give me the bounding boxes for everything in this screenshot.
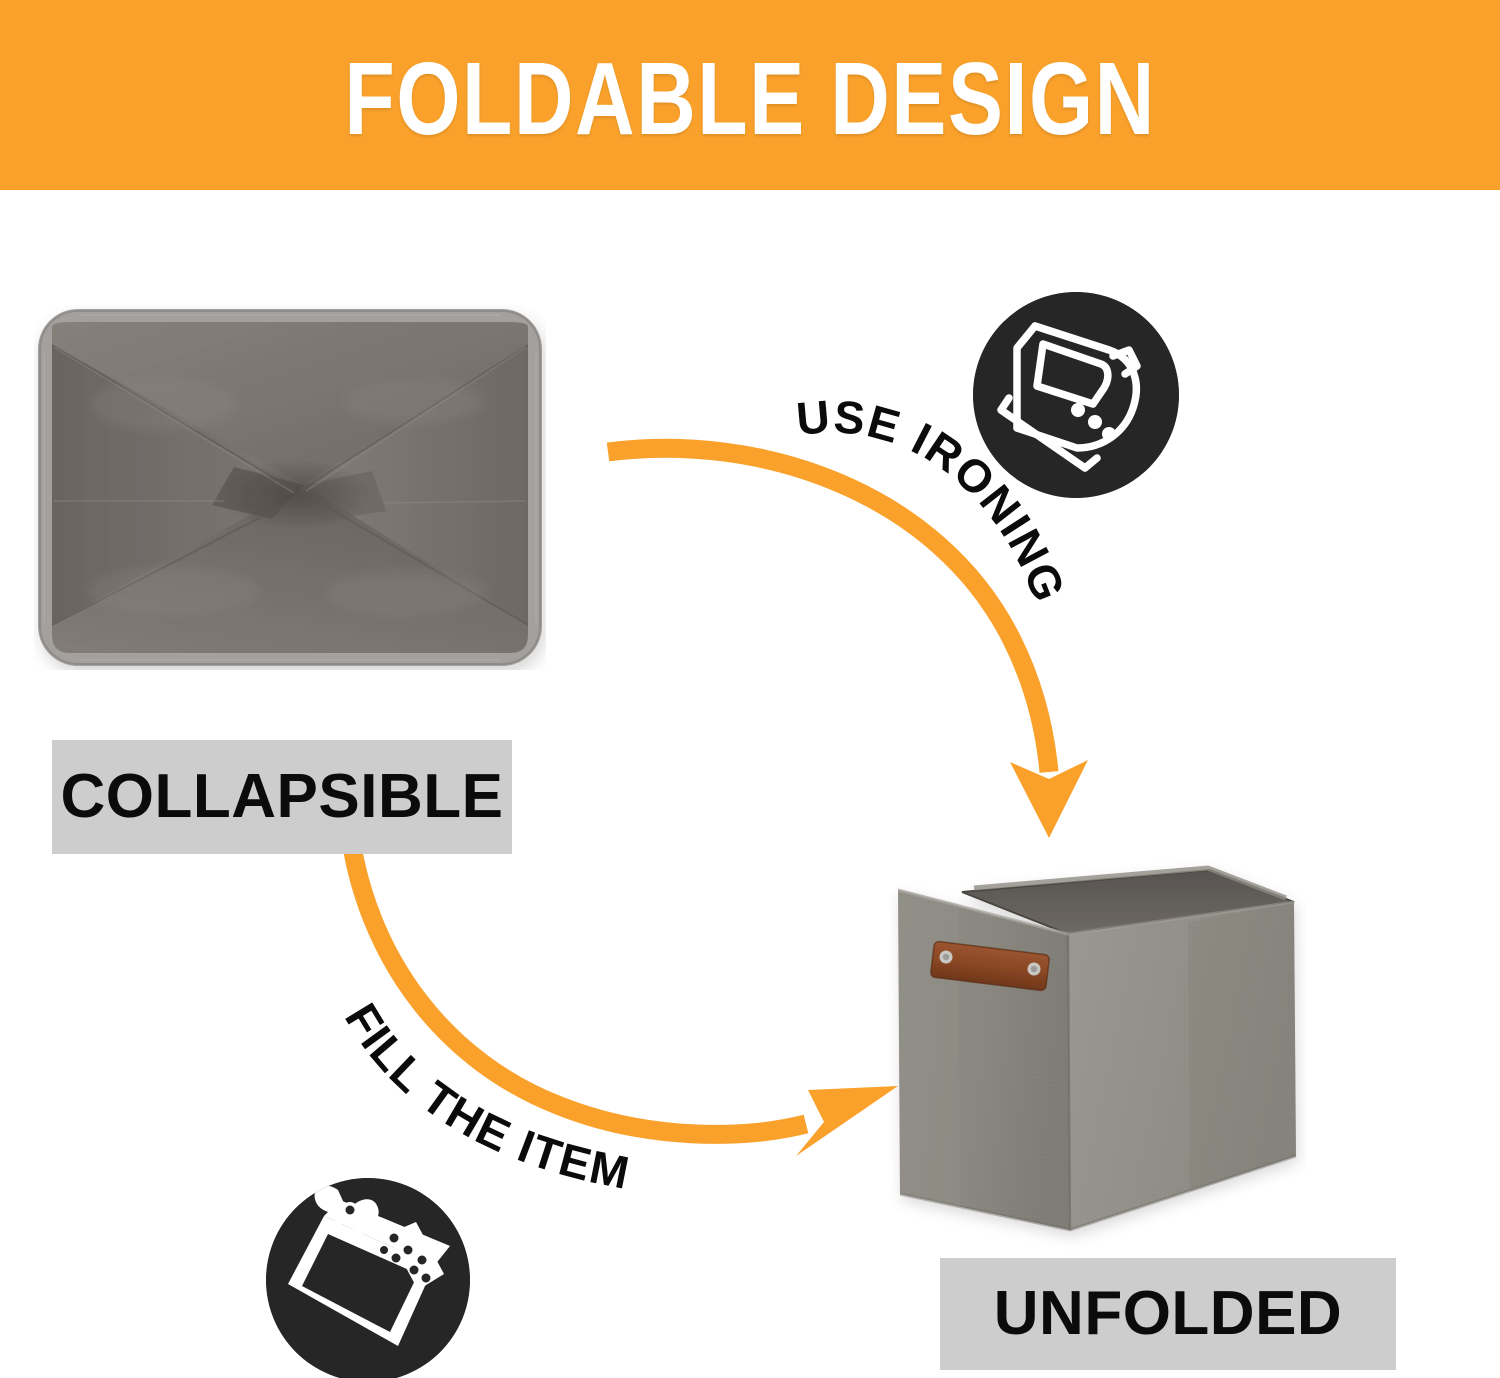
unfolded-bin-body [898, 868, 1296, 1230]
page-title: FOLDABLE DESIGN [344, 47, 1155, 150]
header-banner: FOLDABLE DESIGN [0, 0, 1500, 190]
arrowhead-up-right [796, 1086, 898, 1156]
label-unfolded-text: UNFOLDED [994, 1283, 1342, 1345]
caption-fill-items-text: FILL THE ITEMS [330, 990, 635, 1199]
label-collapsible-text: COLLAPSIBLE [61, 766, 504, 828]
label-unfolded: UNFOLDED [940, 1258, 1396, 1370]
arrow-collapsible-to-unfolded [608, 448, 1088, 838]
infographic-canvas: FOLDABLE DESIGN [0, 0, 1500, 1378]
gift-box-icon [266, 1178, 470, 1378]
arrow-fill-items [352, 846, 898, 1156]
folded-bin-body [38, 309, 542, 666]
folded-storage-bin [34, 305, 546, 670]
unfolded-storage-bin [888, 856, 1306, 1254]
label-collapsible: COLLAPSIBLE [52, 740, 512, 854]
arrowhead-down [1010, 760, 1088, 838]
ironing-icon [973, 292, 1179, 498]
